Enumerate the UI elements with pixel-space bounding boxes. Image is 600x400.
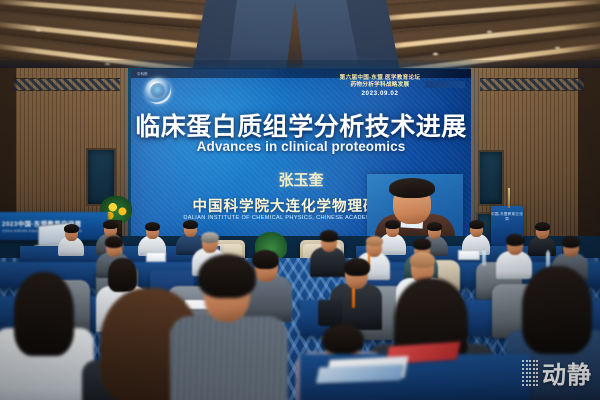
hair xyxy=(103,220,118,229)
hair xyxy=(469,220,484,229)
ceiling-downlight-1 xyxy=(35,28,42,32)
hair xyxy=(427,222,442,231)
lanyard-4 xyxy=(352,288,355,308)
slide-header-line2: 药物分析学科战略发展 xyxy=(305,82,455,89)
slide-header-date: 2023.09.02 xyxy=(305,90,455,98)
ceiling-downlight-6 xyxy=(554,46,561,50)
torso xyxy=(170,316,288,400)
audience-person-far-3 xyxy=(138,222,166,254)
dicp-institute-logo-icon xyxy=(145,78,171,104)
hair xyxy=(535,222,550,231)
audience-person-far-1 xyxy=(58,224,84,254)
hair xyxy=(320,230,338,242)
hair xyxy=(522,266,592,354)
ceiling xyxy=(0,0,600,76)
hair xyxy=(385,220,400,229)
hair xyxy=(201,232,219,243)
hair xyxy=(410,252,435,268)
slide-corner-tag: 中科院 xyxy=(137,71,148,76)
water-bottle-3 xyxy=(482,250,486,266)
wall-edge-right xyxy=(578,68,600,260)
ceiling-downlight-7 xyxy=(486,30,493,34)
conference-photo: 中科院 第六届中国-东盟 医学教育论坛 药物分析学科战略发展 2023.09.0… xyxy=(0,0,600,400)
ceiling-downlight-5 xyxy=(432,52,439,56)
wall-lattice-left xyxy=(14,78,120,91)
delegate-namecard-1 xyxy=(146,252,166,262)
slide-title-english: Advances in clinical proteomics xyxy=(131,139,471,154)
hair xyxy=(145,222,160,231)
speaker-hair xyxy=(389,178,435,198)
hair xyxy=(366,236,383,246)
hair xyxy=(14,272,74,356)
presentation-screen: 中科院 第六届中国-东盟 医学教育论坛 药物分析学科战略发展 2023.09.0… xyxy=(131,69,471,240)
lectern-label: 中国-东盟教育交流周 xyxy=(491,212,523,222)
wall-lattice-right xyxy=(480,78,584,91)
foreground-person-3 xyxy=(170,254,288,400)
hair xyxy=(105,236,123,248)
hair xyxy=(344,258,370,276)
hair xyxy=(506,234,524,246)
lectern-microphone xyxy=(508,188,510,208)
hair xyxy=(198,254,256,298)
slide-header-block: 第六届中国-东盟 医学教育论坛 药物分析学科战略发展 2023.09.02 xyxy=(305,75,455,98)
audience-person-far-7 xyxy=(462,220,490,254)
hair xyxy=(562,236,580,248)
hair xyxy=(322,324,364,354)
hair xyxy=(64,224,79,233)
foreground-booklet-blue xyxy=(316,365,404,384)
hair xyxy=(108,258,137,292)
shoulder-bag xyxy=(318,300,342,326)
wall-art-frame-right xyxy=(478,150,504,206)
hair xyxy=(413,238,431,250)
slide-title-chinese: 临床蛋白质组学分析技术进展 xyxy=(131,107,471,143)
hair xyxy=(183,220,198,229)
delegate-namecard-2 xyxy=(458,250,480,260)
